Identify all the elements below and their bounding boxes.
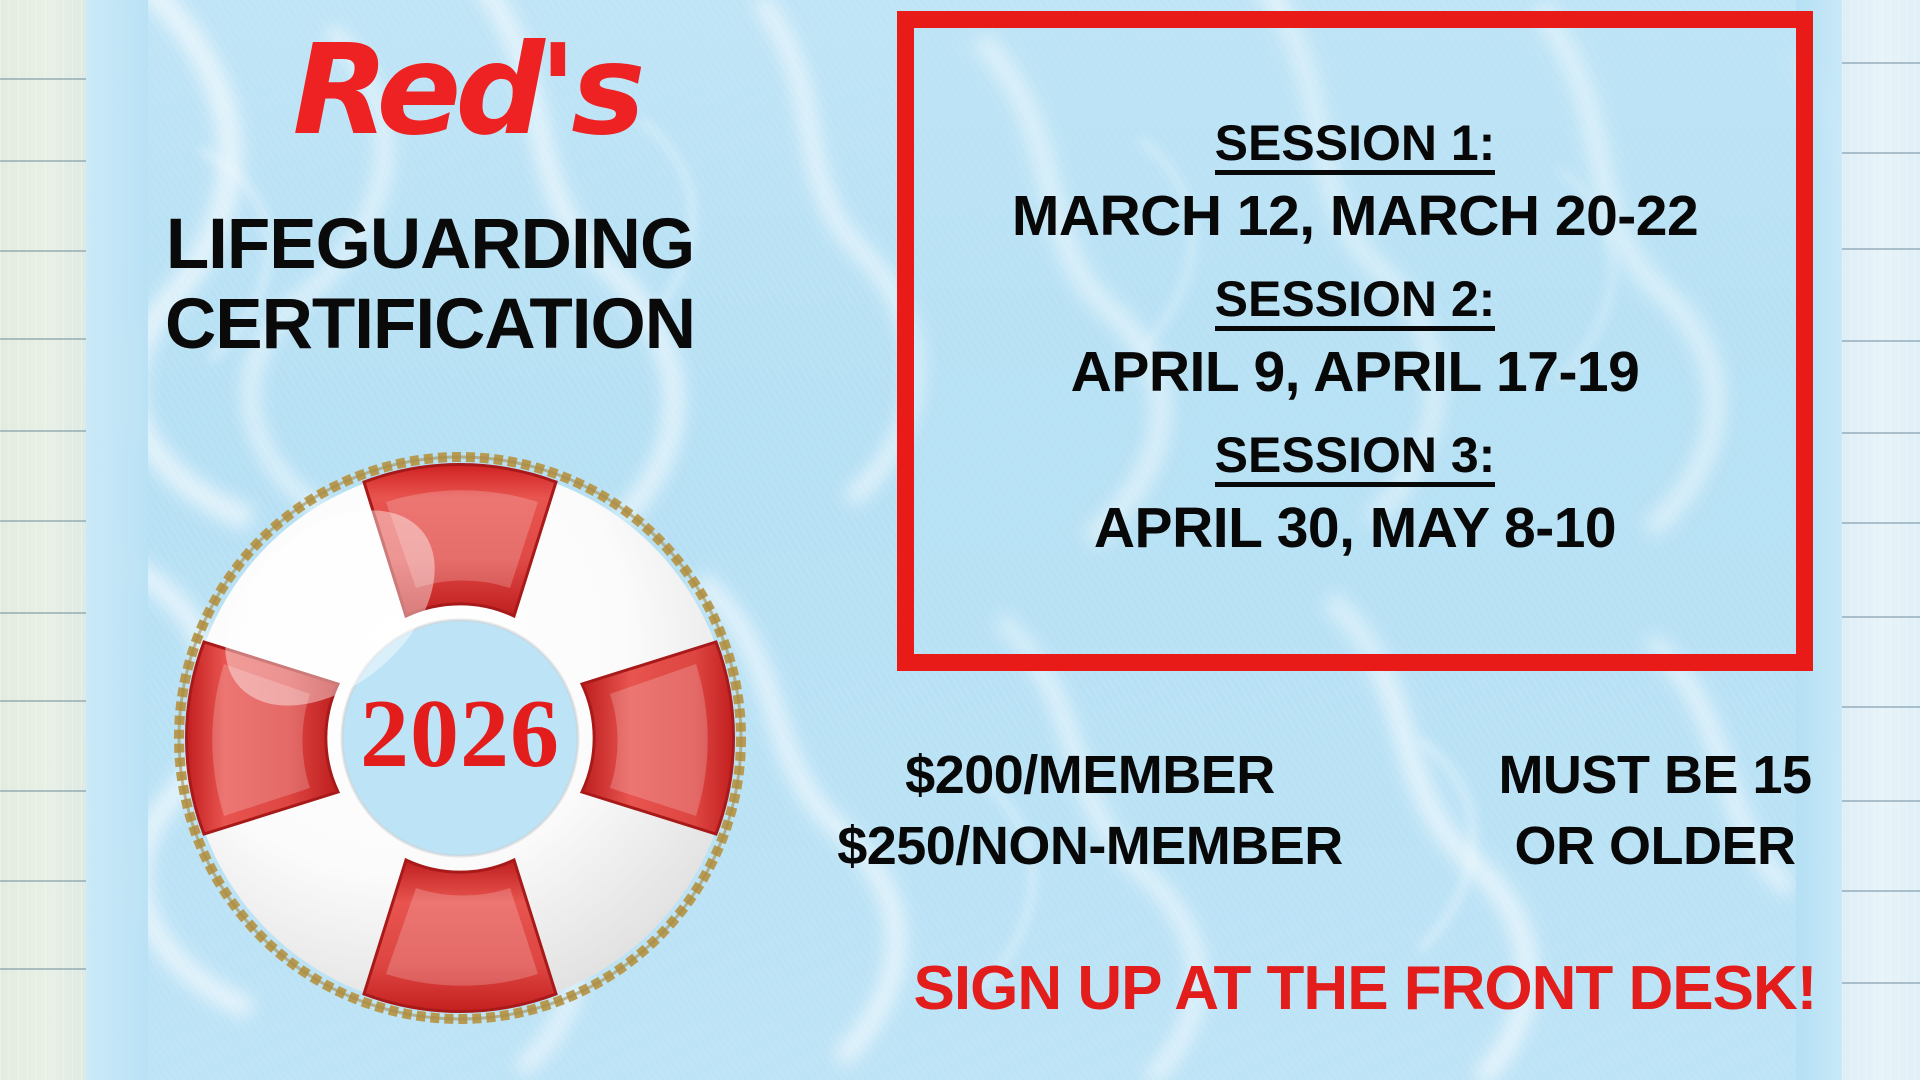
life-ring-icon: 2026 xyxy=(150,428,770,1048)
poster-canvas: Red's LIFEGUARDING CERTIFICATION xyxy=(0,0,1920,1080)
left-deck-water-edge xyxy=(86,0,148,1080)
session-2-title: SESSION 2: xyxy=(1215,273,1496,331)
age-requirement-block: MUST BE 15 OR OLDER xyxy=(1455,740,1855,883)
session-entry: SESSION 2: APRIL 9, APRIL 17-19 xyxy=(928,273,1782,403)
call-to-action-text: SIGN UP AT THE FRONT DESK! xyxy=(860,958,1870,1020)
price-member: $200/MEMBER xyxy=(810,740,1370,811)
headline-line-2: CERTIFICATION xyxy=(100,285,760,365)
session-entry: SESSION 3: APRIL 30, MAY 8-10 xyxy=(928,429,1782,559)
session-1-title: SESSION 1: xyxy=(1215,117,1496,175)
right-deck-tile-strip xyxy=(1842,0,1920,1080)
session-3-dates: APRIL 30, MAY 8-10 xyxy=(928,499,1782,559)
session-entry: SESSION 1: MARCH 12, MARCH 20-22 xyxy=(928,117,1782,247)
reds-brand-logo: Red's xyxy=(276,16,656,166)
price-non-member: $250/NON-MEMBER xyxy=(810,811,1370,882)
pricing-block: $200/MEMBER $250/NON-MEMBER xyxy=(810,740,1370,883)
age-requirement-line-2: OR OLDER xyxy=(1455,811,1855,882)
sessions-panel: SESSION 1: MARCH 12, MARCH 20-22 SESSION… xyxy=(897,11,1813,671)
session-1-dates: MARCH 12, MARCH 20-22 xyxy=(928,187,1782,247)
headline-line-1: LIFEGUARDING xyxy=(166,205,694,284)
session-3-title: SESSION 3: xyxy=(1215,429,1496,487)
age-requirement-line-1: MUST BE 15 xyxy=(1455,740,1855,811)
session-2-dates: APRIL 9, APRIL 17-19 xyxy=(928,343,1782,403)
left-deck-grain xyxy=(0,0,86,1080)
page-title: LIFEGUARDING CERTIFICATION xyxy=(100,205,760,365)
left-deck-tile-strip xyxy=(0,0,86,1080)
right-deck-grain xyxy=(1842,0,1920,1080)
